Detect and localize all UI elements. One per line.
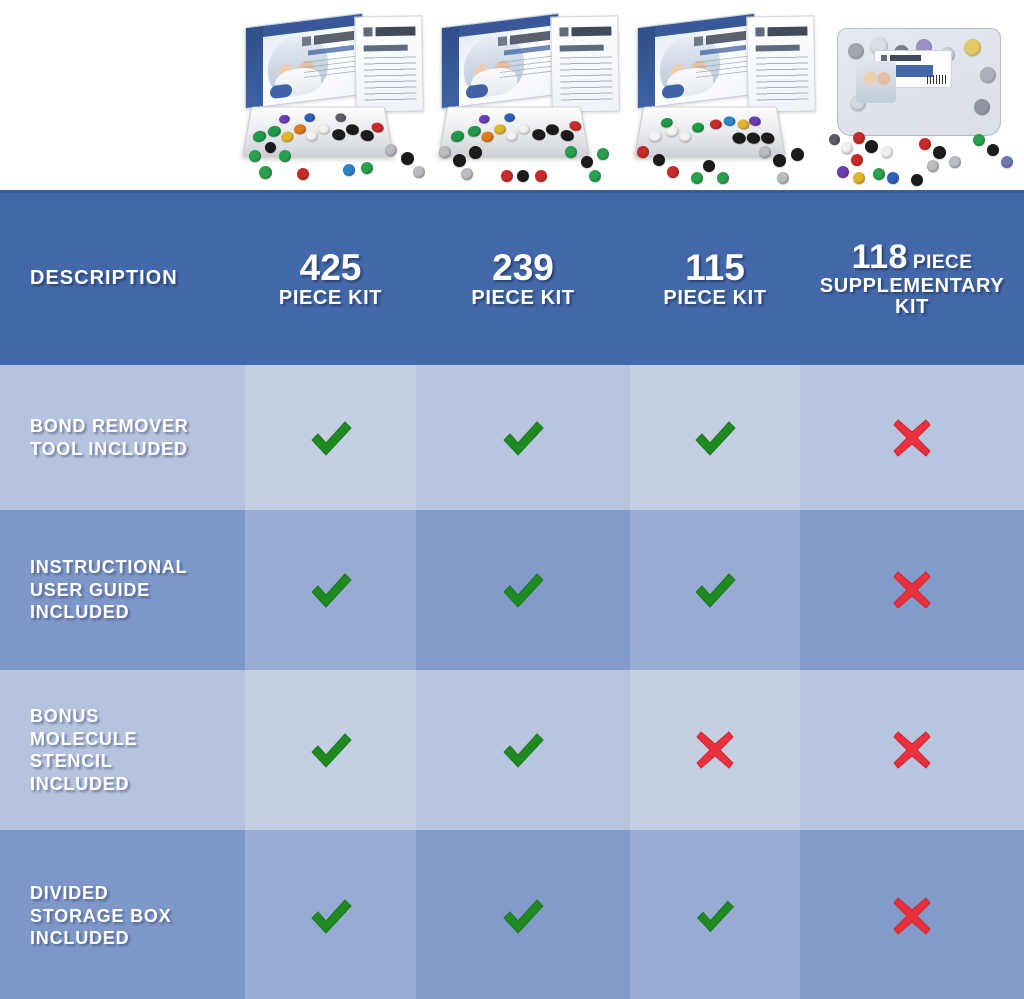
loose-molecule-models [431, 128, 627, 190]
green-check-icon [691, 566, 739, 614]
comparison-infographic: DESCRIPTION 425 PIECE KIT 239 PIECE KIT … [0, 0, 1024, 999]
box-spine [638, 26, 655, 108]
header-kit-425-count: 425 [249, 248, 412, 288]
box-lid-graphic [245, 13, 363, 109]
header-kit-115-count: 115 [634, 248, 796, 288]
header-kit-239-count: 239 [420, 248, 626, 288]
header-kit-239-suffix: PIECE KIT [420, 288, 626, 310]
sheet-text-lines [756, 57, 809, 102]
green-check-icon [307, 726, 355, 774]
row-label-line: INCLUDED [30, 927, 245, 950]
cell-bond-remover-kit-239 [416, 365, 630, 510]
sheet-text-lines [364, 57, 417, 102]
table-row: DIVIDED STORAGE BOX INCLUDED [0, 830, 1024, 999]
header-kit-115: 115 PIECE KIT [630, 248, 800, 310]
cell-user-guide-kit-425 [245, 510, 416, 670]
red-cross-icon [890, 728, 934, 772]
sheet-text-lines [560, 57, 613, 102]
row-label-line: DIVIDED [30, 882, 245, 905]
row-label-line: USER GUIDE [30, 579, 245, 602]
sheet-title-bar [560, 45, 604, 52]
loose-molecule-models [823, 128, 1019, 190]
row-label-bond-remover: BOND REMOVER TOOL INCLUDED [0, 415, 245, 460]
sheet-title-bar [364, 45, 408, 52]
table-row: BONUS MOLECULE STENCIL INCLUDED [0, 670, 1024, 830]
sheet-title-bar [756, 45, 800, 52]
green-check-icon [499, 726, 547, 774]
box-lid-graphic [441, 13, 559, 109]
header-description: DESCRIPTION [0, 268, 245, 290]
product-image-strip [0, 0, 1024, 190]
instruction-sheet-graphic [550, 15, 620, 112]
row-label-line: MOLECULE [30, 728, 245, 751]
cell-storage-box-kit-239 [416, 830, 630, 999]
red-cross-icon [890, 416, 934, 460]
comparison-table: DESCRIPTION 425 PIECE KIT 239 PIECE KIT … [0, 190, 1024, 999]
row-label-line: BONUS [30, 705, 245, 728]
header-kit-425: 425 PIECE KIT [245, 248, 416, 310]
green-check-icon [307, 566, 355, 614]
box-lid-graphic [637, 13, 755, 109]
row-label-line: STORAGE BOX [30, 905, 245, 928]
cell-molecule-stencil-kit-118 [800, 670, 1024, 830]
cell-user-guide-kit-118 [800, 510, 1024, 670]
header-kit-118: 118 PIECE SUPPLEMENTARY KIT [800, 239, 1024, 319]
sheet-logo-icon [559, 27, 611, 37]
header-kit-118-piece: PIECE [913, 252, 973, 273]
green-check-icon [693, 894, 737, 938]
product-image-kit-118 [823, 14, 1019, 190]
row-label-user-guide: INSTRUCTIONAL USER GUIDE INCLUDED [0, 556, 245, 624]
brand-logo-icon [302, 31, 354, 46]
cell-storage-box-kit-115 [630, 830, 800, 999]
cell-molecule-stencil-kit-115 [630, 670, 800, 830]
row-label-line: BOND REMOVER [30, 415, 245, 438]
green-check-icon [691, 414, 739, 462]
box-spine [442, 26, 459, 108]
barcode-icon [927, 75, 947, 84]
row-label-storage-box: DIVIDED STORAGE BOX INCLUDED [0, 882, 245, 950]
row-label-line: INSTRUCTIONAL [30, 556, 245, 579]
bag-label-photo [856, 61, 896, 103]
cell-user-guide-kit-115 [630, 510, 800, 670]
row-label-line: STENCIL [30, 750, 245, 773]
row-label-line: INCLUDED [30, 773, 245, 796]
table-row: BOND REMOVER TOOL INCLUDED [0, 365, 1024, 510]
table-body: BOND REMOVER TOOL INCLUDED [0, 365, 1024, 999]
box-spine [246, 26, 263, 108]
cell-storage-box-kit-118 [800, 830, 1024, 999]
red-cross-icon [890, 894, 934, 938]
row-label-molecule-stencil: BONUS MOLECULE STENCIL INCLUDED [0, 705, 245, 795]
cell-molecule-stencil-kit-239 [416, 670, 630, 830]
brand-logo-icon [498, 31, 550, 46]
green-check-icon [499, 566, 547, 614]
row-label-line: TOOL INCLUDED [30, 438, 245, 461]
product-image-kit-239 [431, 14, 627, 190]
green-check-icon [499, 892, 547, 940]
cell-bond-remover-kit-425 [245, 365, 416, 510]
green-check-icon [307, 414, 355, 462]
green-check-icon [307, 892, 355, 940]
header-kit-118-count: 118 [852, 238, 908, 276]
green-check-icon [499, 414, 547, 462]
cell-molecule-stencil-kit-425 [245, 670, 416, 830]
header-kit-118-supplementary: SUPPLEMENTARY [804, 276, 1020, 298]
product-image-kit-115 [627, 14, 823, 190]
header-kit-118-kit: KIT [804, 297, 1020, 319]
sheet-logo-icon [755, 27, 807, 37]
instruction-sheet-graphic [746, 15, 816, 112]
header-kit-425-suffix: PIECE KIT [249, 288, 412, 310]
brand-logo-icon [694, 31, 746, 46]
loose-molecule-models [627, 128, 823, 190]
table-row: INSTRUCTIONAL USER GUIDE INCLUDED [0, 510, 1024, 670]
red-cross-icon [693, 728, 737, 772]
cell-storage-box-kit-425 [245, 830, 416, 999]
sheet-logo-icon [363, 27, 415, 37]
table-header-row: DESCRIPTION 425 PIECE KIT 239 PIECE KIT … [0, 190, 1024, 365]
cell-bond-remover-kit-118 [800, 365, 1024, 510]
cell-bond-remover-kit-115 [630, 365, 800, 510]
instruction-sheet-graphic [354, 15, 424, 112]
cell-user-guide-kit-239 [416, 510, 630, 670]
product-image-kit-425 [235, 14, 431, 190]
supplementary-kit-bag-graphic [837, 28, 1001, 136]
row-label-line: INCLUDED [30, 601, 245, 624]
header-kit-239: 239 PIECE KIT [416, 248, 630, 310]
red-cross-icon [890, 568, 934, 612]
loose-molecule-models [235, 128, 431, 190]
header-kit-115-suffix: PIECE KIT [634, 288, 796, 310]
